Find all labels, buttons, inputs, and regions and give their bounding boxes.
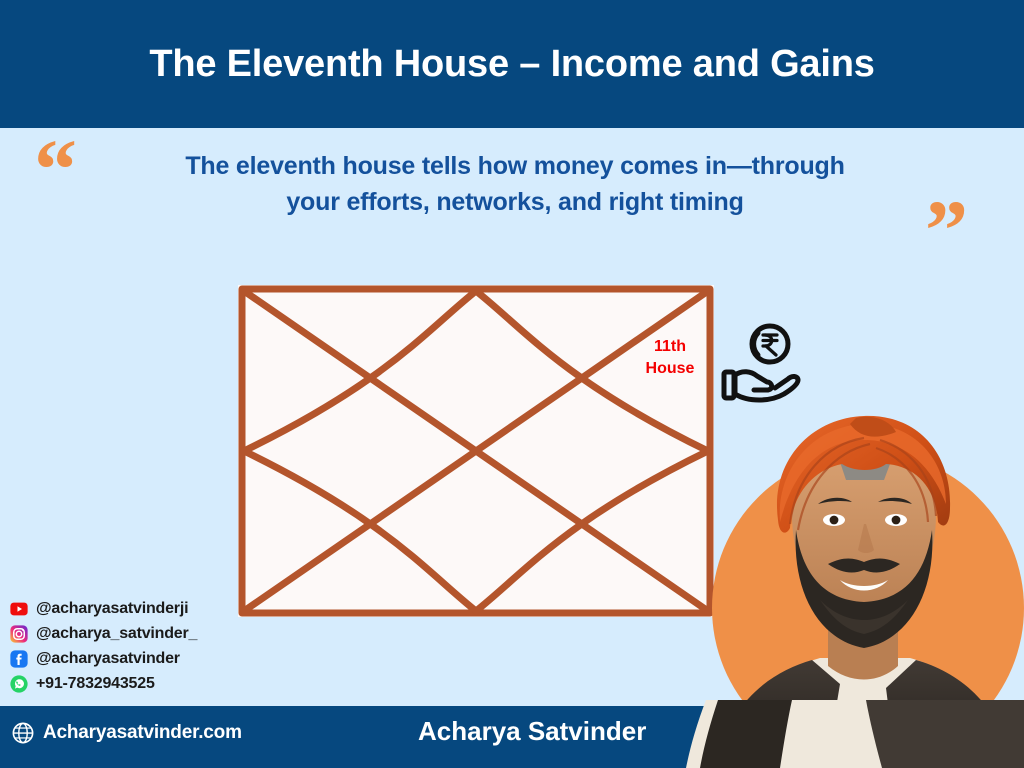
rupee-in-hand-icon	[718, 322, 804, 408]
facebook-icon[interactable]	[10, 650, 28, 668]
rupee-in-hand-glyph	[718, 322, 804, 408]
portrait-overlap-mask	[656, 700, 1024, 768]
page-title: The Eleventh House – Income and Gains	[149, 43, 874, 86]
globe-icon	[12, 722, 34, 744]
social-handle-instagram[interactable]: @acharya_satvinder_	[36, 625, 197, 643]
house-label-line-1: 11th	[654, 338, 686, 355]
social-handle-whatsapp[interactable]: +91-7832943525	[36, 675, 155, 693]
footer-website-text[interactable]: Acharyasatvinder.com	[43, 722, 242, 744]
list-item[interactable]: @acharya_satvinder_	[10, 623, 197, 645]
house-label: 11th House	[640, 336, 700, 380]
list-item[interactable]: @acharyasatvinderji	[10, 598, 197, 620]
quote-close-mark: ”	[925, 200, 968, 260]
kundali-chart	[238, 285, 714, 617]
social-handle-youtube[interactable]: @acharyasatvinderji	[36, 600, 188, 618]
social-handle-facebook[interactable]: @acharyasatvinder	[36, 650, 180, 668]
quote-line-1: The eleventh house tells how money comes…	[150, 148, 880, 184]
list-item[interactable]: +91-7832943525	[10, 673, 197, 695]
poster-canvas: The Eleventh House – Income and Gains “ …	[0, 0, 1024, 768]
quote-text: The eleventh house tells how money comes…	[150, 148, 880, 220]
portrait-body-overlap	[656, 700, 1024, 768]
instagram-icon[interactable]	[10, 625, 28, 643]
youtube-icon[interactable]	[10, 600, 28, 618]
list-item[interactable]: @acharyasatvinder	[10, 648, 197, 670]
footer-brand-name: Acharya Satvinder	[418, 716, 646, 747]
quote-line-2: your efforts, networks, and right timing	[150, 184, 880, 220]
whatsapp-icon[interactable]	[10, 675, 28, 693]
footer-website[interactable]: Acharyasatvinder.com	[12, 722, 242, 744]
social-handles-list: @acharyasatvinderji @acharya_satvinder_	[10, 598, 197, 695]
house-label-line-2: House	[646, 360, 695, 377]
header-bar: The Eleventh House – Income and Gains	[0, 0, 1024, 128]
kundali-chart-svg	[238, 285, 714, 617]
quote-open-mark: “	[34, 139, 77, 199]
